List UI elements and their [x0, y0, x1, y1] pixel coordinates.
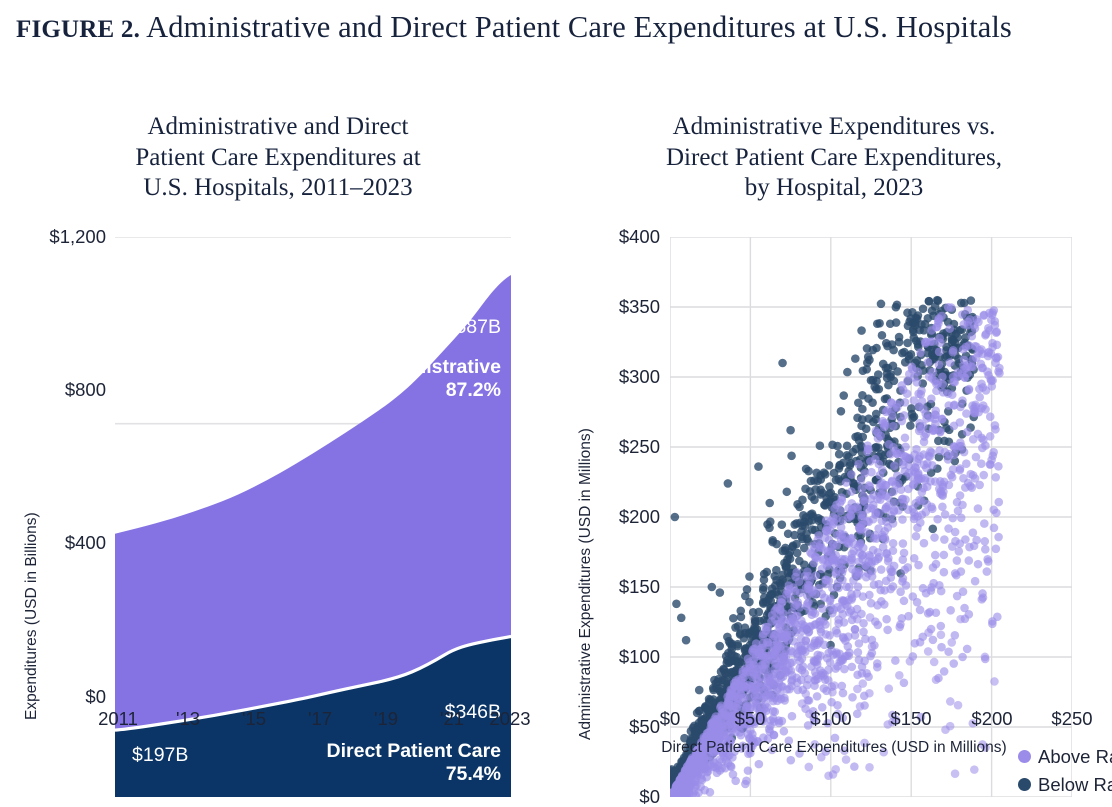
scatter-point — [874, 524, 883, 533]
scatter-point — [866, 613, 875, 622]
scatter-point — [838, 597, 847, 606]
scatter-point — [850, 762, 859, 771]
scatter-point — [839, 459, 848, 468]
scatter-point — [911, 639, 920, 648]
scatter-point — [724, 479, 733, 488]
scatter-point — [792, 600, 801, 609]
scatter-point — [782, 487, 791, 496]
scatter-point — [940, 478, 949, 487]
scatter-point — [959, 345, 968, 354]
left-x-tick-2023: 2023 — [470, 710, 550, 729]
left-chart-title-line2: Patient Care Expenditures at — [0, 143, 556, 174]
scatter-point — [765, 676, 774, 685]
right-y-tick-300: $300 — [562, 368, 660, 387]
scatter-point — [788, 616, 797, 625]
scatter-point — [977, 360, 986, 369]
scatter-point — [878, 331, 887, 340]
scatter-point — [815, 621, 824, 630]
scatter-point — [732, 653, 741, 662]
scatter-point — [761, 623, 770, 632]
scatter-point — [716, 588, 725, 597]
scatter-point — [937, 631, 946, 640]
scatter-point — [957, 442, 966, 451]
scatter-point — [958, 396, 967, 405]
scatter-point — [963, 306, 972, 315]
scatter-point — [927, 394, 936, 403]
scatter-point — [956, 418, 965, 427]
scatter-point — [933, 515, 942, 524]
scatter-point — [833, 629, 842, 638]
scatter-point — [817, 590, 826, 599]
scatter-point — [987, 456, 996, 465]
scatter-point — [895, 338, 904, 347]
scatter-point — [992, 544, 1001, 553]
scatter-point — [929, 425, 938, 434]
left-y-tick-0: $0 — [10, 688, 106, 707]
scatter-point — [956, 615, 965, 624]
scatter-point — [824, 771, 833, 780]
scatter-point — [947, 303, 956, 312]
scatter-point — [949, 346, 958, 355]
scatter-point — [792, 540, 801, 549]
scatter-point — [891, 447, 900, 456]
scatter-point — [883, 626, 892, 635]
scatter-point — [931, 551, 940, 560]
scatter-point — [977, 380, 986, 389]
scatter-point — [993, 341, 1002, 350]
scatter-point — [909, 508, 918, 517]
scatter-point — [749, 660, 758, 669]
scatter-point — [984, 324, 993, 333]
scatter-point — [914, 389, 923, 398]
scatter-point — [940, 568, 949, 577]
scatter-point — [805, 581, 814, 590]
scatter-point — [944, 647, 953, 656]
scatter-point — [823, 523, 832, 532]
scatter-point — [853, 671, 862, 680]
scatter-point — [944, 389, 953, 398]
scatter-point — [787, 452, 796, 461]
scatter-point — [901, 495, 910, 504]
scatter-point — [972, 536, 981, 545]
scatter-point — [753, 670, 762, 679]
scatter-point — [979, 435, 988, 444]
scatter-point — [934, 379, 943, 388]
scatter-point — [918, 397, 927, 406]
scatter-point — [846, 511, 855, 520]
scatter-point — [921, 474, 930, 483]
scatter-point — [928, 525, 937, 534]
scatter-point — [763, 654, 772, 663]
scatter-point — [989, 448, 998, 457]
scatter-point — [884, 684, 893, 693]
scatter-point — [989, 505, 998, 514]
scatter-point — [930, 415, 939, 424]
scatter-point — [937, 643, 946, 652]
scatter-point — [906, 421, 915, 430]
scatter-point — [894, 506, 903, 515]
scatter-point — [882, 503, 891, 512]
scatter-point — [857, 521, 866, 530]
scatter-point — [889, 519, 898, 528]
scatter-point — [970, 765, 979, 774]
scatter-point — [750, 692, 759, 701]
scatter-point — [830, 504, 839, 513]
scatter-point — [883, 406, 892, 415]
scatter-point — [811, 485, 820, 494]
scatter-point — [893, 367, 902, 376]
right-chart-title-line2: Direct Patient Care Expenditures, — [556, 143, 1112, 174]
scatter-point — [801, 484, 810, 493]
scatter-point — [924, 358, 933, 367]
scatter-point — [859, 492, 868, 501]
scatter-point — [833, 541, 842, 550]
scatter-point — [962, 459, 971, 468]
scatter-point — [797, 527, 806, 536]
label-admin-start-value: $367B — [132, 400, 188, 420]
scatter-point — [926, 608, 935, 617]
scatter-point — [865, 689, 874, 698]
scatter-point — [779, 657, 788, 666]
scatter-point — [974, 504, 983, 513]
scatter-point — [731, 777, 740, 786]
scatter-point — [912, 532, 921, 541]
scatter-point — [839, 689, 848, 698]
scatter-point — [854, 648, 863, 657]
scatter-point — [963, 645, 972, 654]
left-y-tick-800: $800 — [10, 381, 106, 400]
scatter-point — [841, 636, 850, 645]
scatter-point — [749, 608, 758, 617]
scatter-point — [798, 620, 807, 629]
scatter-point — [867, 376, 876, 385]
scatter-point — [692, 781, 701, 790]
scatter-point — [840, 665, 849, 674]
scatter-point — [755, 645, 764, 654]
scatter-point — [730, 679, 739, 688]
scatter-point — [911, 499, 920, 508]
scatter-point — [890, 562, 899, 571]
label-direct-series: Direct Patient Care — [201, 740, 501, 763]
right-x-tick-200: $200 — [952, 710, 1032, 729]
legend-dot-below-ratio — [1018, 778, 1031, 791]
scatter-point — [980, 519, 989, 528]
scatter-point — [935, 581, 944, 590]
scatter-point — [891, 481, 900, 490]
scatter-point — [862, 425, 871, 434]
scatter-point — [839, 391, 848, 400]
scatter-point — [916, 606, 925, 615]
scatter-point — [983, 367, 992, 376]
scatter-point — [826, 602, 835, 611]
scatter-point — [788, 658, 797, 667]
scatter-point — [978, 444, 987, 453]
scatter-point — [851, 354, 860, 363]
scatter-point — [803, 535, 812, 544]
scatter-point — [954, 507, 963, 516]
left-y-tick-1200: $1,200 — [10, 228, 106, 247]
scatter-point — [817, 543, 826, 552]
scatter-point — [858, 484, 867, 493]
scatter-point — [842, 755, 851, 764]
scatter-point — [901, 433, 910, 442]
scatter-point — [712, 684, 721, 693]
scatter-point — [980, 311, 989, 320]
scatter-point — [810, 476, 819, 485]
scatter-point — [825, 576, 834, 585]
scatter-point — [990, 524, 999, 533]
panel-area-chart: Administrative and Direct Patient Care E… — [0, 100, 556, 780]
scatter-point — [900, 597, 909, 606]
scatter-point — [845, 583, 854, 592]
scatter-point — [903, 563, 912, 572]
scatter-point — [914, 340, 923, 349]
scatter-point — [901, 398, 910, 407]
scatter-point — [908, 410, 917, 419]
scatter-point — [981, 405, 990, 414]
scatter-point — [745, 572, 754, 581]
scatter-point — [842, 478, 851, 487]
scatter-point — [968, 332, 977, 341]
scatter-point — [873, 621, 882, 630]
scatter-point — [736, 607, 745, 616]
scatter-point — [829, 651, 838, 660]
scatter-point — [754, 462, 763, 471]
scatter-point — [745, 598, 754, 607]
scatter-point — [858, 405, 867, 414]
scatter-point — [800, 518, 809, 527]
scatter-point — [811, 552, 820, 561]
scatter-point — [909, 328, 918, 337]
left-chart-title-line3: U.S. Hospitals, 2011–2023 — [0, 173, 556, 204]
scatter-point — [695, 686, 704, 695]
scatter-point — [934, 437, 943, 446]
scatter-point — [760, 575, 769, 584]
scatter-point — [799, 662, 808, 671]
scatter-point — [936, 338, 945, 347]
right-chart-title-line1: Administrative Expenditures vs. — [556, 112, 1112, 143]
scatter-point — [899, 539, 908, 548]
scatter-point — [927, 586, 936, 595]
scatter-point — [954, 547, 963, 556]
scatter-point — [868, 398, 877, 407]
scatter-point — [838, 682, 847, 691]
scatter-point — [828, 584, 837, 593]
scatter-point — [913, 523, 922, 532]
scatter-point — [748, 647, 757, 656]
scatter-point — [727, 645, 736, 654]
right-y-tick-100: $100 — [562, 648, 660, 667]
scatter-point — [788, 671, 797, 680]
scatter-point — [812, 672, 821, 681]
right-y-tick-200: $200 — [562, 508, 660, 527]
legend-item-below-ratio[interactable]: Below Ratio — [1018, 770, 1112, 798]
scatter-point — [874, 434, 883, 443]
scatter-point — [986, 375, 995, 384]
scatter-point — [886, 319, 895, 328]
scatter-point — [798, 699, 807, 708]
scatter-point — [918, 510, 927, 519]
scatter-point — [983, 567, 992, 576]
scatter-point — [890, 461, 899, 470]
scatter-point — [920, 438, 929, 447]
scatter-point — [858, 555, 867, 564]
scatter-point — [787, 756, 796, 765]
scatter-point — [863, 528, 872, 537]
scatter-point — [881, 421, 890, 430]
scatter-point — [932, 387, 941, 396]
scatter-point — [946, 606, 955, 615]
scatter-point — [960, 373, 969, 382]
scatter-point — [829, 555, 838, 564]
scatter-point — [889, 539, 898, 548]
scatter-point — [885, 440, 894, 449]
right-y-tick-400: $400 — [562, 228, 660, 247]
scatter-point — [930, 533, 939, 542]
scatter-point — [786, 426, 795, 435]
scatter-point — [692, 768, 701, 777]
scatter-point — [773, 603, 782, 612]
right-chart-title-line3: by Hospital, 2023 — [556, 173, 1112, 204]
scatter-point — [832, 476, 841, 485]
scatter-point — [868, 642, 877, 651]
scatter-point — [837, 496, 846, 505]
scatter-point — [768, 538, 777, 547]
scatter-point — [784, 529, 793, 538]
scatter-point — [991, 473, 1000, 482]
scatter-point — [932, 560, 941, 569]
scatter-point — [990, 677, 999, 686]
scatter-point — [931, 302, 940, 311]
scatter-point — [876, 495, 885, 504]
scatter-point — [677, 614, 686, 623]
scatter-point — [837, 407, 846, 416]
scatter-point — [906, 657, 915, 666]
scatter-point — [977, 459, 986, 468]
scatter-point — [938, 415, 947, 424]
scatter-point — [948, 514, 957, 523]
scatter-point — [766, 517, 775, 526]
scatter-point — [938, 502, 947, 511]
scatter-point — [771, 615, 780, 624]
scatter-point — [855, 639, 864, 648]
scatter-point — [869, 534, 878, 543]
scatter-point — [828, 441, 837, 450]
right-y-tick-0: $0 — [562, 788, 660, 807]
scatter-point — [725, 637, 734, 646]
left-y-tick-400: $400 — [10, 534, 106, 553]
scatter-point — [988, 617, 997, 626]
scatter-point — [851, 625, 860, 634]
scatter-point — [801, 637, 810, 646]
scatter-point — [953, 556, 962, 565]
scatter-point — [734, 622, 743, 631]
scatter-point — [954, 701, 963, 710]
scatter-point — [914, 561, 923, 570]
scatter-point — [940, 535, 949, 544]
scatter-point — [887, 398, 896, 407]
scatter-point — [962, 409, 971, 418]
scatter-point — [778, 520, 787, 529]
scatter-point — [970, 321, 979, 330]
scatter-point — [979, 593, 988, 602]
scatter-point — [704, 767, 713, 776]
scatter-point — [941, 510, 950, 519]
scatter-point — [766, 597, 775, 606]
scatter-point — [951, 769, 960, 778]
right-x-tick-100: $100 — [791, 710, 871, 729]
scatter-point — [866, 552, 875, 561]
scatter-point — [706, 788, 715, 797]
scatter-point — [882, 615, 891, 624]
scatter-point — [765, 499, 774, 508]
scatter-point — [838, 531, 847, 540]
scatter-point — [931, 406, 940, 415]
scatter-point — [902, 452, 911, 461]
scatter-point — [992, 328, 1001, 337]
scatter-point — [994, 367, 1003, 376]
scatter-point — [935, 348, 944, 357]
scatter-point — [882, 577, 891, 586]
scatter-point — [755, 760, 764, 769]
scatter-point — [872, 385, 881, 394]
scatter-point — [964, 386, 973, 395]
scatter-point — [804, 598, 813, 607]
scatter-point — [844, 652, 853, 661]
scatter-point — [959, 587, 968, 596]
scatter-point — [974, 560, 983, 569]
scatter-point — [901, 442, 910, 451]
scatter-point — [769, 635, 778, 644]
scatter-point — [915, 419, 924, 428]
scatter-point — [782, 563, 791, 572]
scatter-point — [866, 652, 875, 661]
scatter-point — [869, 418, 878, 427]
scatter-point — [883, 374, 892, 383]
scatter-point — [900, 411, 909, 420]
scatter-point — [763, 691, 772, 700]
scatter-point — [858, 415, 867, 424]
scatter-point — [821, 470, 830, 479]
scatter-point — [847, 470, 856, 479]
scatter-point — [806, 607, 815, 616]
scatter-point — [903, 389, 912, 398]
right-x-tick-0: $0 — [630, 710, 710, 729]
scatter-point — [818, 604, 827, 613]
scatter-point — [804, 763, 813, 772]
scatter-point — [863, 448, 872, 457]
scatter-point — [838, 610, 847, 619]
scatter-point — [932, 675, 941, 684]
scatter-point — [947, 638, 956, 647]
scatter-point — [966, 482, 975, 491]
scatter-point — [804, 675, 813, 684]
scatter-point — [975, 346, 984, 355]
scatter-point — [916, 348, 925, 357]
scatter-point — [879, 543, 888, 552]
figure-number: Figure 2. — [16, 16, 140, 43]
scatter-point — [881, 534, 890, 543]
scatter-point — [994, 462, 1003, 471]
scatter-point — [981, 653, 990, 662]
scatter-point — [907, 363, 916, 372]
scatter-point — [740, 673, 749, 682]
scatter-point — [915, 452, 924, 461]
scatter-point — [813, 692, 822, 701]
scatter-point — [825, 461, 834, 470]
scatter-point — [843, 368, 852, 377]
left-chart-title-line1: Administrative and Direct — [0, 112, 556, 143]
